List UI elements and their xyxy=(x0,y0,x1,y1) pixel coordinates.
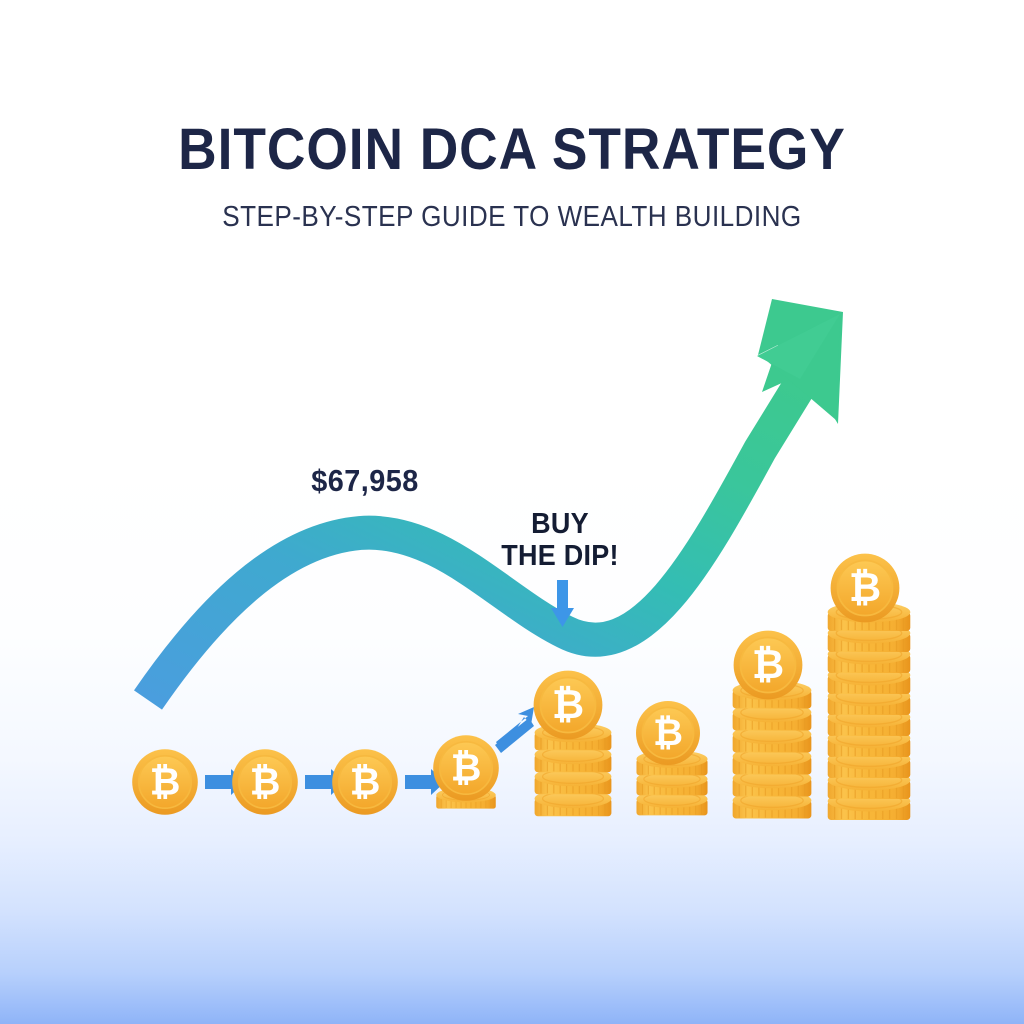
bitcoin-coin-1 xyxy=(132,749,198,815)
bitcoin-coin-3 xyxy=(332,749,398,815)
coin-stack-2 xyxy=(636,701,708,815)
buy-the-dip-label: BUY THE DIP! xyxy=(467,508,653,573)
stack4-top-coin xyxy=(831,554,900,623)
poster-canvas: BITCOIN DCA STRATEGY STEP-BY-STEP GUIDE … xyxy=(0,0,1024,1024)
dip-label-line-2: THE DIP! xyxy=(467,540,653,572)
coin-sequence xyxy=(132,707,534,815)
coin-stack-1 xyxy=(534,671,612,817)
price-label: $67,958 xyxy=(249,463,482,499)
stack1-top-coin xyxy=(534,671,603,740)
dip-label-line-1: BUY xyxy=(467,508,653,540)
coin-stack-3 xyxy=(733,631,812,819)
bitcoin-coin-2 xyxy=(232,749,298,815)
sequence-arrow-up-shaft xyxy=(495,718,534,753)
stack2-top-coin xyxy=(636,701,700,765)
stack3-top-coin xyxy=(734,631,803,700)
coin-stack-4 xyxy=(828,554,911,820)
bitcoin-coin-4 xyxy=(433,735,499,801)
